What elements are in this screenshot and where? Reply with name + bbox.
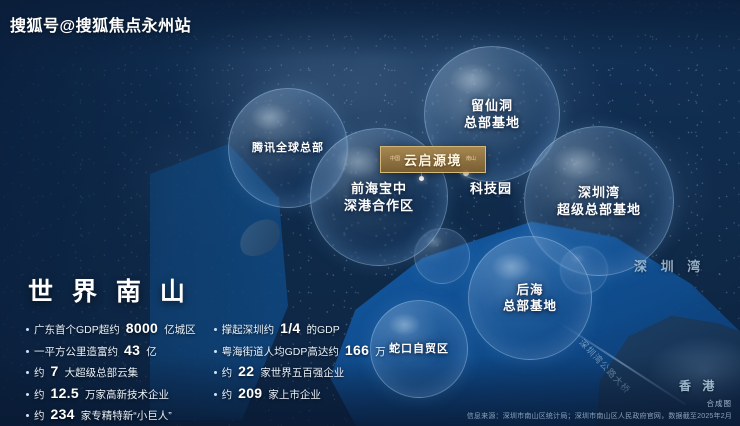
bullet-number: 234 xyxy=(50,406,76,422)
bullet-item: 约7大超级总部云集 xyxy=(26,363,196,379)
bullet-text-post: 万家高新技术企业 xyxy=(85,389,169,401)
bullet-number: 209 xyxy=(237,385,263,401)
bullet-item: 约22家世界五百强企业 xyxy=(214,363,386,379)
bullet-text-post: 的GDP xyxy=(307,324,340,336)
bullet-columns: 广东首个GDP超约8000亿城区 一平方公里造富约43亿 约7大超级总部云集 约… xyxy=(26,320,346,422)
bubble-highlight xyxy=(388,313,421,336)
bubble-label-houhai: 后海 总部基地 xyxy=(503,282,557,315)
bubble-label-qianhai: 前海宝中 深港合作区 xyxy=(344,180,414,214)
bullet-item: 约12.5万家高新技术企业 xyxy=(26,385,196,401)
bullet-text-post: 家上市企业 xyxy=(268,389,321,401)
bullet-number: 22 xyxy=(237,363,255,379)
bullet-text-post: 家专精特新“小巨人” xyxy=(81,410,172,422)
plaque-side-right: 南山 xyxy=(466,157,476,162)
bullet-text-pre: 约 xyxy=(222,367,233,379)
bullet-number: 7 xyxy=(50,363,60,379)
bullet-text-pre: 撑起深圳约 xyxy=(222,324,275,336)
bullet-text-pre: 广东首个GDP超约 xyxy=(34,324,120,336)
bubble-highlight xyxy=(552,145,602,181)
bullet-number: 1/4 xyxy=(279,320,301,336)
bullet-item: 撑起深圳约1/4的GDP xyxy=(214,320,386,336)
bullet-item: 约234家专精特新“小巨人” xyxy=(26,406,196,422)
bullet-text-pre: 一平方公里造富约 xyxy=(34,346,118,358)
bubble-label-shenzhenwan: 深圳湾 超级总部基地 xyxy=(557,184,641,218)
bullet-column-left: 广东首个GDP超约8000亿城区 一平方公里造富约43亿 约7大超级总部云集 约… xyxy=(26,320,196,422)
watermark-text: 搜狐号@搜狐焦点永州站 xyxy=(10,12,191,36)
bullet-number: 43 xyxy=(123,342,141,358)
footer-synthetic-note: 合成图 xyxy=(467,398,732,409)
bullet-number: 166 xyxy=(344,342,370,358)
bullet-number: 8000 xyxy=(125,320,159,336)
info-panel-title: 世 界 南 山 xyxy=(28,272,346,308)
footer-source-note: 信息来源：深圳市南山区统计局；深圳市南山区人民政府官网，数据截至2025年2月 xyxy=(467,411,732,421)
project-plaque-yunqiyuanjing[interactable]: 中国 云启源境 南山 xyxy=(380,146,486,173)
bullet-item: 粤海街道人均GDP高达约166万 xyxy=(214,342,386,358)
bubble-highlight xyxy=(250,103,290,131)
bubble-houhai-hq-base[interactable]: 后海 总部基地 xyxy=(468,236,592,360)
plaque-side-left: 中国 xyxy=(390,157,400,162)
geo-label-shenzhen-bay: 深 圳 湾 xyxy=(634,256,705,275)
poster-canvas: 深圳湾公路大桥 搜狐号@搜狐焦点永州站 腾讯全球总部 留仙洞 总部基地 前海宝中… xyxy=(0,0,740,426)
bubble-highlight xyxy=(335,145,381,178)
bullet-text-post: 亿城区 xyxy=(164,324,196,336)
bubble-label-tencent: 腾讯全球总部 xyxy=(252,141,324,156)
bullet-text-pre: 约 xyxy=(34,410,45,422)
geo-label-hongkong: 香 港 xyxy=(679,377,718,394)
bullet-text-pre: 约 xyxy=(222,389,233,401)
bullet-text-pre: 约 xyxy=(34,389,45,401)
bubble-highlight xyxy=(449,63,495,95)
map-marker-dot-yunqi[interactable] xyxy=(419,176,424,181)
bullet-text-pre: 约 xyxy=(34,367,45,379)
bullet-text-post: 大超级总部云集 xyxy=(65,367,139,379)
info-panel: 世 界 南 山 广东首个GDP超约8000亿城区 一平方公里造富约43亿 约7大… xyxy=(26,272,346,422)
bullet-text-post: 家世界五百强企业 xyxy=(260,367,344,379)
bullet-item: 广东首个GDP超约8000亿城区 xyxy=(26,320,196,336)
bullet-item: 约209家上市企业 xyxy=(214,385,386,401)
bullet-text-post: 万 xyxy=(375,346,386,358)
plaque-main-title: 云启源境 xyxy=(404,150,462,169)
footer-block: 合成图 信息来源：深圳市南山区统计局；深圳市南山区人民政府官网，数据截至2025… xyxy=(467,398,732,421)
bullet-text-pre: 粤海街道人均GDP高达约 xyxy=(222,346,339,358)
bullet-number: 12.5 xyxy=(50,385,80,401)
map-label-kejiyuan: 科技园 xyxy=(470,178,512,197)
bullet-text-post: 亿 xyxy=(146,346,157,358)
bullet-item: 一平方公里造富约43亿 xyxy=(26,342,196,358)
bubble-label-shekou: 蛇口自贸区 xyxy=(389,342,449,357)
bubble-label-liuxiandong: 留仙洞 总部基地 xyxy=(464,97,520,131)
bullet-column-right: 撑起深圳约1/4的GDP 粤海街道人均GDP高达约166万 约22家世界五百强企… xyxy=(214,320,386,422)
bubble-highlight xyxy=(491,252,532,281)
